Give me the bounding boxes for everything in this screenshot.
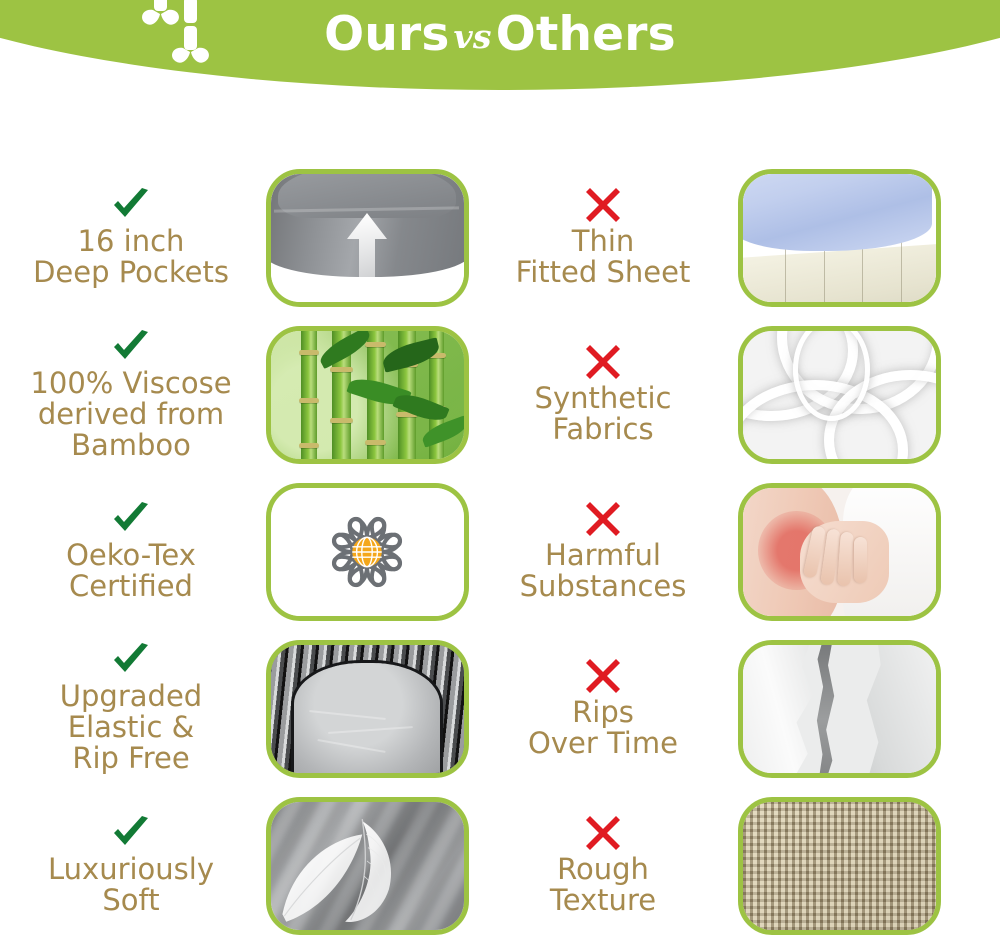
- ours-row-3-label: Oeko-Tex Certified: [66, 540, 196, 602]
- ours-row-2-text: 100% Viscose derived from Bamboo: [0, 330, 262, 461]
- ours-row-4-text: Upgraded Elastic & Rip Free: [0, 643, 262, 774]
- ours-row-5-label: Luxuriously Soft: [48, 854, 214, 916]
- check-icon: [111, 502, 151, 536]
- up-arrow-icon: [345, 213, 389, 295]
- others-row-5-label: Rough Texture: [550, 854, 656, 916]
- title-vs: vs: [450, 17, 496, 56]
- cross-icon: [586, 659, 620, 693]
- ours-row-5-image: [266, 797, 469, 935]
- cross-icon: [586, 816, 620, 850]
- ours-row-5-text: Luxuriously Soft: [0, 816, 262, 916]
- ours-row-3-image: [266, 483, 469, 621]
- ours-row-1-text: 16 inch Deep Pockets: [0, 188, 262, 288]
- ours-row-4-label: Upgraded Elastic & Rip Free: [60, 681, 202, 774]
- ours-row-2-label: 100% Viscose derived from Bamboo: [30, 368, 231, 461]
- others-row-3-label: Harmful Substances: [520, 540, 687, 602]
- synthetic-fabric-art: [743, 331, 936, 459]
- others-row-3-image: [738, 483, 941, 621]
- ours-row-1-image: [266, 169, 469, 307]
- oeko-tex-logo-art: [271, 488, 464, 616]
- cross-icon: [586, 188, 620, 222]
- cross-icon: [586, 502, 620, 536]
- check-icon: [111, 330, 151, 364]
- others-row-4-image: [738, 640, 941, 778]
- check-icon: [111, 188, 151, 222]
- others-row-2-text: Synthetic Fabrics: [472, 345, 734, 445]
- title-ours: Ours: [324, 7, 449, 62]
- others-row-2-label: Synthetic Fabrics: [535, 383, 672, 445]
- others-row-3-text: Harmful Substances: [472, 502, 734, 602]
- bamboo-stalks-art: [271, 331, 464, 459]
- check-icon: [111, 643, 151, 677]
- others-row-1-image: [738, 169, 941, 307]
- cross-icon: [586, 345, 620, 379]
- feather-on-silk-art: [271, 802, 464, 930]
- others-row-1-text: Thin Fitted Sheet: [472, 188, 734, 288]
- title-others: Others: [496, 7, 676, 62]
- elastic-fitted-sheet-art: [271, 645, 464, 773]
- ripped-fabric-art: [743, 645, 936, 773]
- ours-row-2-image: [266, 326, 469, 464]
- comparison-grid: 16 inch Deep Pockets Thin Fitted Sheet: [0, 160, 1000, 944]
- others-row-1-label: Thin Fitted Sheet: [516, 226, 691, 288]
- deep-pocket-mattress-art: [271, 174, 464, 302]
- skin-irritation-art: [743, 488, 936, 616]
- burlap-texture-art: [743, 802, 936, 930]
- ours-row-4-image: [266, 640, 469, 778]
- others-row-5-image: [738, 797, 941, 935]
- check-icon: [111, 816, 151, 850]
- others-row-2-image: [738, 326, 941, 464]
- ours-row-3-text: Oeko-Tex Certified: [0, 502, 262, 602]
- others-row-4-text: Rips Over Time: [472, 659, 734, 759]
- others-row-4-label: Rips Over Time: [528, 697, 678, 759]
- page-title: OursvsOthers: [0, 7, 1000, 62]
- others-row-5-text: Rough Texture: [472, 816, 734, 916]
- thin-fitted-sheet-art: [743, 174, 936, 302]
- header-banner: OursvsOthers: [0, 0, 1000, 90]
- ours-row-1-label: 16 inch Deep Pockets: [33, 226, 229, 288]
